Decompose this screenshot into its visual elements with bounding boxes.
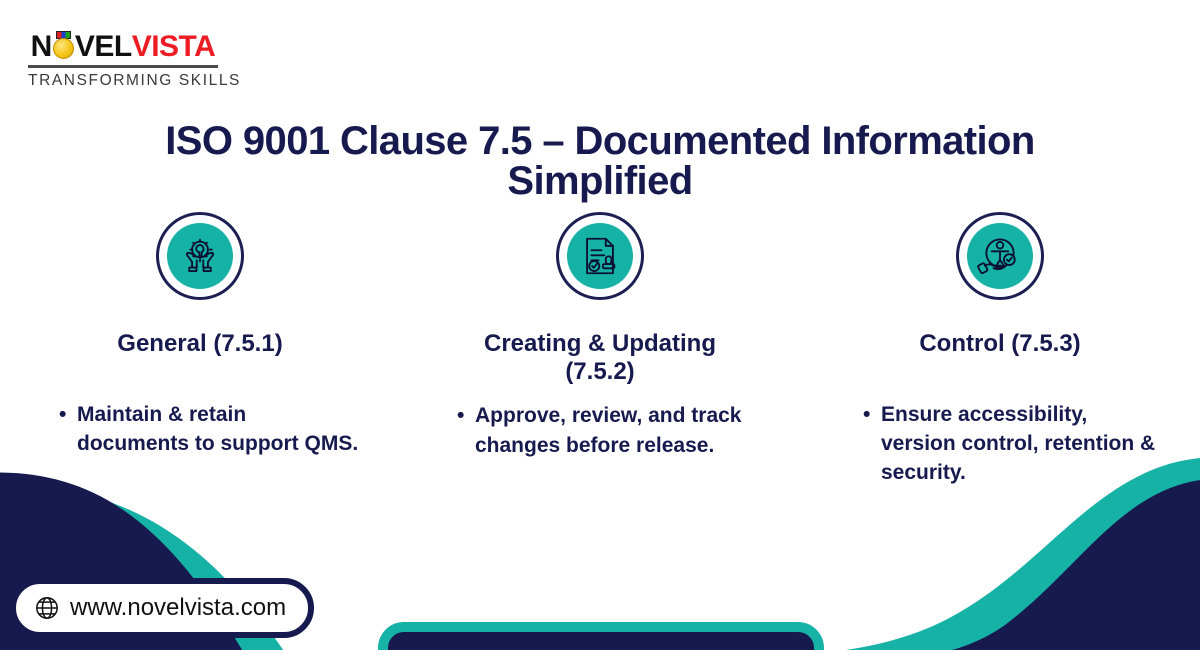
column-general: General (7.5.1) • Maintain & retain docu… <box>0 212 400 488</box>
icon-ring-creating-updating <box>556 212 644 300</box>
hand-holding-person-check-icon <box>967 223 1033 289</box>
infographic-canvas: N VEL VISTA TRANSFORMING SKILLS ISO 9001… <box>0 0 1200 650</box>
icon-ring-general <box>156 212 244 300</box>
bullet-list-creating-updating: • Approve, review, and track changes bef… <box>457 401 757 460</box>
bullet-dot: • <box>863 400 881 429</box>
page-title: ISO 9001 Clause 7.5 – Documented Informa… <box>140 121 1060 201</box>
column-control: Control (7.5.3) • Ensure accessibility, … <box>800 212 1200 488</box>
document-stamp-approval-icon <box>567 223 633 289</box>
logo-wordmark: N VEL VISTA <box>28 30 218 62</box>
column-heading-control: Control (7.5.3) <box>919 330 1080 358</box>
medal-circle-icon <box>53 38 74 59</box>
bullet-text: Ensure accessibility, version control, r… <box>881 400 1163 488</box>
list-item: • Approve, review, and track changes bef… <box>457 401 757 460</box>
logo-text-vel: VEL <box>75 32 132 62</box>
column-heading-creating-updating: Creating & Updating (7.5.2) <box>455 330 745 385</box>
bullet-dot: • <box>59 400 77 429</box>
website-url-text: www.novelvista.com <box>70 594 286 622</box>
bottom-cta-card[interactable] <box>378 622 824 650</box>
bullet-dot: • <box>457 401 475 430</box>
bullet-text: Maintain & retain documents to support Q… <box>77 400 359 459</box>
bullet-text: Approve, review, and track changes befor… <box>475 401 757 460</box>
logo-tagline: TRANSFORMING SKILLS <box>28 72 218 90</box>
icon-ring-control <box>956 212 1044 300</box>
hands-holding-gear-icon <box>167 223 233 289</box>
logo-letter-n: N <box>31 32 52 62</box>
column-heading-general: General (7.5.1) <box>117 330 282 358</box>
medal-icon <box>52 31 75 62</box>
logo-divider <box>28 65 218 68</box>
website-url-badge[interactable]: www.novelvista.com <box>10 578 314 638</box>
list-item: • Maintain & retain documents to support… <box>59 400 359 459</box>
brand-logo[interactable]: N VEL VISTA TRANSFORMING SKILLS <box>28 30 218 90</box>
logo-text-vista: VISTA <box>132 32 216 62</box>
list-item: • Ensure accessibility, version control,… <box>863 400 1163 488</box>
globe-icon <box>34 595 60 621</box>
columns-container: General (7.5.1) • Maintain & retain docu… <box>0 212 1200 488</box>
bullet-list-control: • Ensure accessibility, version control,… <box>863 400 1163 488</box>
column-creating-updating: Creating & Updating (7.5.2) • Approve, r… <box>400 212 800 488</box>
bullet-list-general: • Maintain & retain documents to support… <box>59 400 359 459</box>
